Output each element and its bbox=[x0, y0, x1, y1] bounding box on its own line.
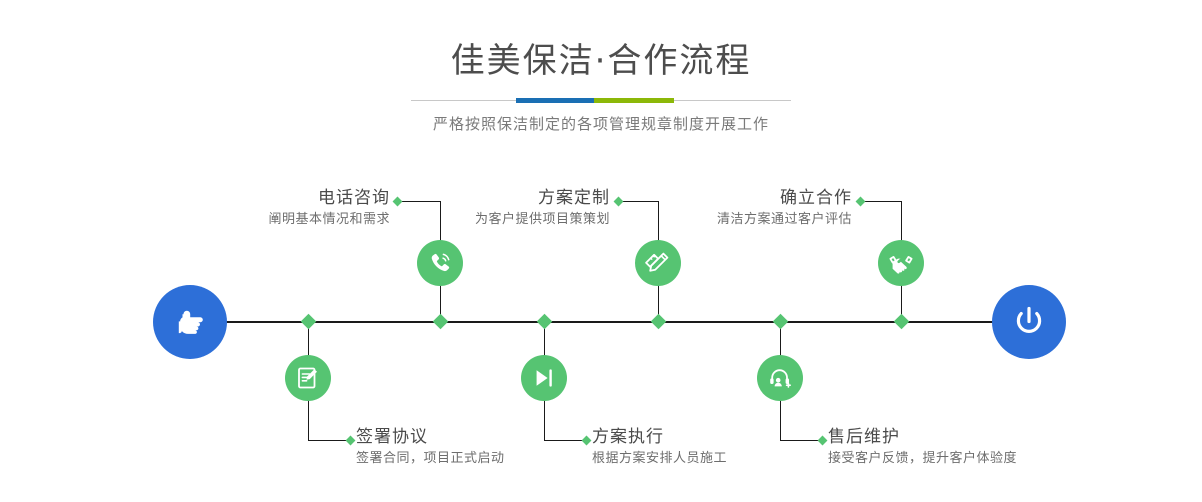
step-desc-3: 为客户提供项目策策划 bbox=[360, 210, 610, 230]
step-title-6: 售后维护 bbox=[828, 425, 1108, 449]
axis-marker-step-5 bbox=[894, 314, 910, 330]
connector-horizontal-step-5 bbox=[861, 201, 902, 202]
node-icon-step-5 bbox=[878, 240, 924, 286]
label-marker-step-5 bbox=[856, 197, 866, 207]
step-label-4: 方案执行 根据方案安排人员施工 bbox=[592, 425, 852, 469]
step-title-2: 签署协议 bbox=[356, 425, 616, 449]
power-button-icon bbox=[1008, 301, 1050, 343]
step-title-4: 方案执行 bbox=[592, 425, 852, 449]
node-icon-step-1 bbox=[417, 240, 463, 286]
step-label-2: 签署协议 签署合同，项目正式启动 bbox=[356, 425, 616, 469]
headset-support-icon bbox=[767, 365, 793, 391]
connector-horizontal-step-3 bbox=[619, 201, 659, 202]
axis-marker-step-4 bbox=[537, 314, 553, 330]
step-desc-1: 阐明基本情况和需求 bbox=[140, 210, 390, 230]
connector-horizontal-step-1 bbox=[398, 201, 441, 202]
timeline-axis bbox=[160, 321, 1042, 323]
node-icon-step-3 bbox=[635, 240, 681, 286]
document-edit-icon bbox=[295, 365, 321, 391]
pencil-ruler-icon bbox=[644, 249, 672, 277]
timeline: 电话咨询 阐明基本情况和需求 签署协议 签署合同，项目正式启动 bbox=[0, 0, 1202, 502]
timeline-end-endpoint bbox=[992, 285, 1066, 359]
step-desc-5: 清洁方案通过客户评估 bbox=[602, 210, 852, 230]
phone-call-icon bbox=[426, 249, 454, 277]
step-label-5: 确立合作 清洁方案通过客户评估 bbox=[602, 186, 852, 230]
axis-marker-step-3 bbox=[651, 314, 667, 330]
connector-horizontal-step-2 bbox=[308, 440, 350, 441]
axis-marker-step-1 bbox=[433, 314, 449, 330]
connector-horizontal-step-6 bbox=[780, 440, 822, 441]
handshake-icon bbox=[887, 249, 915, 277]
pointing-hand-icon bbox=[170, 302, 210, 342]
step-title-5: 确立合作 bbox=[602, 186, 852, 210]
node-icon-step-4 bbox=[521, 355, 567, 401]
timeline-start-endpoint bbox=[153, 285, 227, 359]
axis-marker-step-2 bbox=[301, 314, 317, 330]
step-desc-4: 根据方案安排人员施工 bbox=[592, 449, 852, 469]
play-execute-icon bbox=[531, 365, 557, 391]
label-marker-step-2 bbox=[346, 436, 356, 446]
step-label-3: 方案定制 为客户提供项目策策划 bbox=[360, 186, 610, 230]
node-icon-step-6 bbox=[757, 355, 803, 401]
step-label-1: 电话咨询 阐明基本情况和需求 bbox=[140, 186, 390, 230]
connector-horizontal-step-4 bbox=[544, 440, 586, 441]
step-desc-6: 接受客户反馈，提升客户体验度 bbox=[828, 449, 1108, 469]
step-title-1: 电话咨询 bbox=[140, 186, 390, 210]
node-icon-step-2 bbox=[285, 355, 331, 401]
step-label-6: 售后维护 接受客户反馈，提升客户体验度 bbox=[828, 425, 1108, 469]
step-desc-2: 签署合同，项目正式启动 bbox=[356, 449, 616, 469]
process-flow-infographic: 佳美保洁·合作流程 严格按照保洁制定的各项管理规章制度开展工作 bbox=[0, 0, 1202, 502]
axis-marker-step-6 bbox=[773, 314, 789, 330]
